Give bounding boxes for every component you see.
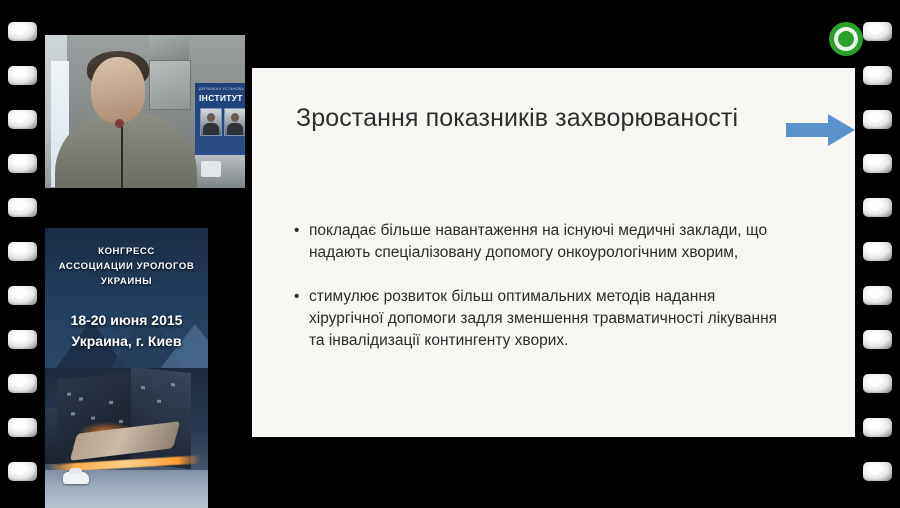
poster-title-line-1: КОНГРЕСС (45, 244, 208, 259)
film-perforation-strip-right (855, 0, 900, 508)
poster-location: Украина, г. Киев (45, 331, 208, 352)
presentation-slide: Зростання показників захворюваності • по… (252, 68, 855, 437)
arrow-svg (786, 113, 855, 147)
list-item: • стимулює розвиток більш оптимальних ме… (292, 286, 844, 352)
list-item: • покладає більше навантаження на існуюч… (292, 220, 844, 264)
banner-line-1: ДЕРЖАВНА УСТАНОВА (199, 87, 245, 91)
banner-line-2: ІНСТИТУТ У (199, 93, 245, 103)
film-perforation (863, 374, 892, 393)
film-perforation (8, 462, 37, 481)
film-perforation-strip-left (0, 0, 45, 508)
film-perforation (863, 110, 892, 129)
poster-car (63, 472, 89, 484)
speaker-video-feed[interactable]: ДЕРЖАВНА УСТАНОВА ІНСТИТУТ У (45, 35, 245, 188)
bullet-marker: • (294, 220, 299, 242)
portrait-body (203, 123, 219, 135)
bullet-line: покладає більше навантаження на існуючі … (309, 220, 844, 242)
congress-poster: КОНГРЕСС АССОЦИАЦИИ УРОЛОГОВ УКРАИНЫ 18-… (45, 228, 208, 508)
bullet-line: стимулює розвиток більш оптимальних мето… (309, 286, 844, 308)
film-perforation (8, 242, 37, 261)
poster-car-roof (69, 468, 82, 474)
poster-title-line-2: АССОЦИАЦИИ УРОЛОГОВ (45, 259, 208, 274)
poster-photo (45, 368, 208, 508)
film-perforation (863, 286, 892, 305)
slide-title: Зростання показників захворюваності (296, 104, 738, 133)
film-perforation (863, 418, 892, 437)
bullet-line: та інвалідизації контингенту хворих. (309, 330, 844, 352)
poster-date-block: 18-20 июня 2015 Украина, г. Киев (45, 310, 208, 352)
green-circle-logo-icon (827, 20, 865, 58)
film-perforation (8, 66, 37, 85)
film-perforation (8, 286, 37, 305)
video-institute-banner: ДЕРЖАВНА УСТАНОВА ІНСТИТУТ У (195, 83, 245, 155)
bullet-line: хірургічної допомоги задля зменшення тра… (309, 308, 844, 330)
logo-svg (827, 20, 865, 58)
film-perforation (8, 110, 37, 129)
banner-portrait (224, 108, 245, 136)
film-perforation (863, 330, 892, 349)
film-perforation (8, 374, 37, 393)
film-perforation (863, 66, 892, 85)
right-arrow-icon (786, 113, 855, 147)
banner-portrait (200, 108, 222, 136)
poster-title-block: КОНГРЕСС АССОЦИАЦИИ УРОЛОГОВ УКРАИНЫ (45, 244, 208, 289)
film-perforation (8, 154, 37, 173)
portrait-head (231, 113, 239, 122)
film-perforation (8, 418, 37, 437)
film-perforation (8, 22, 37, 41)
poster-building-right (131, 368, 191, 469)
film-perforation (863, 154, 892, 173)
film-perforation (8, 198, 37, 217)
video-background-table (195, 155, 245, 188)
slide-bullet-list: • покладає більше навантаження на існуюч… (292, 220, 844, 374)
film-perforation (863, 22, 892, 41)
film-perforation (863, 198, 892, 217)
speaker-head (91, 57, 145, 123)
bullet-marker: • (294, 286, 299, 308)
video-table-object (201, 161, 221, 177)
film-perforation (8, 330, 37, 349)
portrait-body (227, 123, 243, 135)
microphone-cord (121, 127, 123, 188)
poster-title-line-3: УКРАИНЫ (45, 274, 208, 289)
video-cabinet-upper (149, 35, 189, 61)
film-perforation (863, 242, 892, 261)
bullet-line: надають спеціалізовану допомогу онкоурол… (309, 242, 844, 264)
poster-date: 18-20 июня 2015 (45, 310, 208, 331)
video-player-frame: ДЕРЖАВНА УСТАНОВА ІНСТИТУТ У КОНГРЕСС (0, 0, 900, 508)
film-perforation (863, 462, 892, 481)
video-cabinet (149, 60, 191, 110)
portrait-head (207, 113, 215, 122)
